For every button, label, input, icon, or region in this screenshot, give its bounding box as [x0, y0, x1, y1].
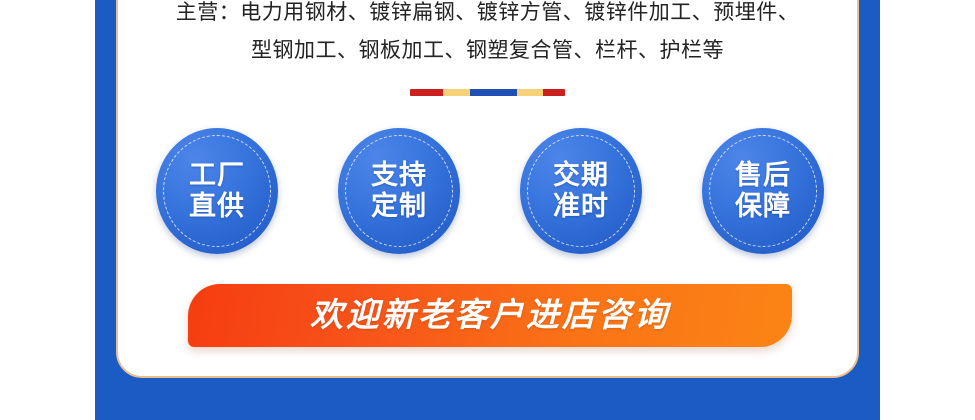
- divider-segment-blue: [470, 89, 517, 96]
- badge-custom-support-label: 支持定制: [371, 160, 427, 222]
- badge-on-time-delivery[interactable]: 交期准时: [520, 128, 642, 254]
- store-consultation-cta[interactable]: 欢迎新老客户进店咨询: [188, 284, 792, 347]
- feature-badges: 工厂直供 支持定制 交期准时 售后保障: [140, 128, 840, 258]
- promo-banner: 主营：电力用钢材、镀锌扁钢、镀锌方管、镀锌件加工、预埋件、 型钢加工、钢板加工、…: [0, 0, 975, 420]
- business-scope-text: 主营：电力用钢材、镀锌扁钢、镀锌方管、镀锌件加工、预埋件、 型钢加工、钢板加工、…: [130, 0, 845, 70]
- store-consultation-cta-label: 欢迎新老客户进店咨询: [310, 298, 670, 331]
- badge-custom-support[interactable]: 支持定制: [338, 128, 460, 254]
- business-scope-line-1: 主营：电力用钢材、镀锌扁钢、镀锌方管、镀锌件加工、预埋件、: [130, 0, 845, 32]
- divider-segment-gold-right: [517, 89, 543, 96]
- business-scope-line-2: 型钢加工、钢板加工、钢塑复合管、栏杆、护栏等: [130, 32, 845, 70]
- tricolor-divider: [410, 89, 565, 96]
- badge-after-sales-label: 售后保障: [735, 160, 791, 222]
- badge-factory-direct-label: 工厂直供: [189, 160, 245, 222]
- badge-factory-direct[interactable]: 工厂直供: [156, 128, 278, 254]
- badge-on-time-delivery-label: 交期准时: [553, 160, 609, 222]
- badge-after-sales[interactable]: 售后保障: [702, 128, 824, 254]
- divider-segment-red-left: [410, 89, 443, 96]
- divider-segment-red-right: [543, 89, 565, 96]
- divider-segment-gold-left: [443, 89, 471, 96]
